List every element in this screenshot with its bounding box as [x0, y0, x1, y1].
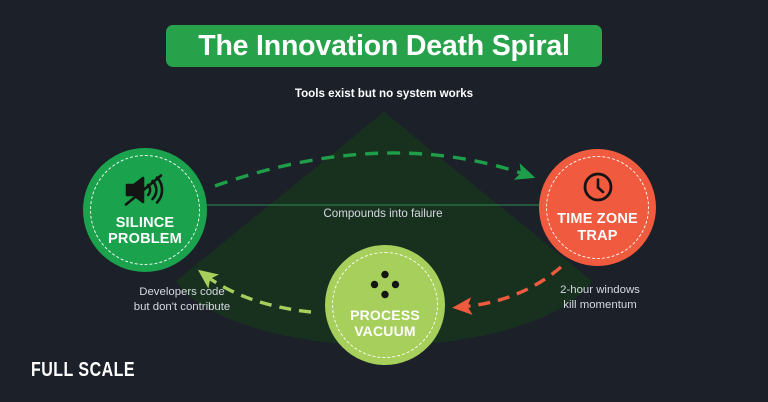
clock-icon: [582, 171, 614, 208]
title-banner: The Innovation Death Spiral: [166, 25, 602, 67]
caption-left: Developers code but don't contribute: [92, 285, 272, 316]
speaker-mute-icon: [123, 173, 167, 212]
caption-right: 2-hour windows kill momentum: [505, 283, 695, 314]
node-label: PROCESS VACUUM: [350, 308, 420, 339]
node-label: TIME ZONE TRAP: [557, 211, 638, 243]
infographic-canvas: The Innovation Death Spiral SILINCE PROB…: [0, 0, 768, 402]
node-silence-problem[interactable]: SILINCE PROBLEM: [83, 148, 207, 272]
node-label: SILINCE PROBLEM: [108, 215, 182, 247]
page-title: The Innovation Death Spiral: [198, 32, 569, 61]
caption-middle: Compounds into failure: [283, 206, 483, 222]
caption-top: Tools exist but no system works: [243, 86, 525, 102]
node-process-vacuum[interactable]: PROCESS VACUUM: [325, 245, 445, 365]
node-time-zone-trap[interactable]: TIME ZONE TRAP: [539, 149, 656, 266]
brand-logo: FULL SCALE: [31, 359, 135, 382]
four-dots-diamond-icon: [368, 270, 402, 305]
